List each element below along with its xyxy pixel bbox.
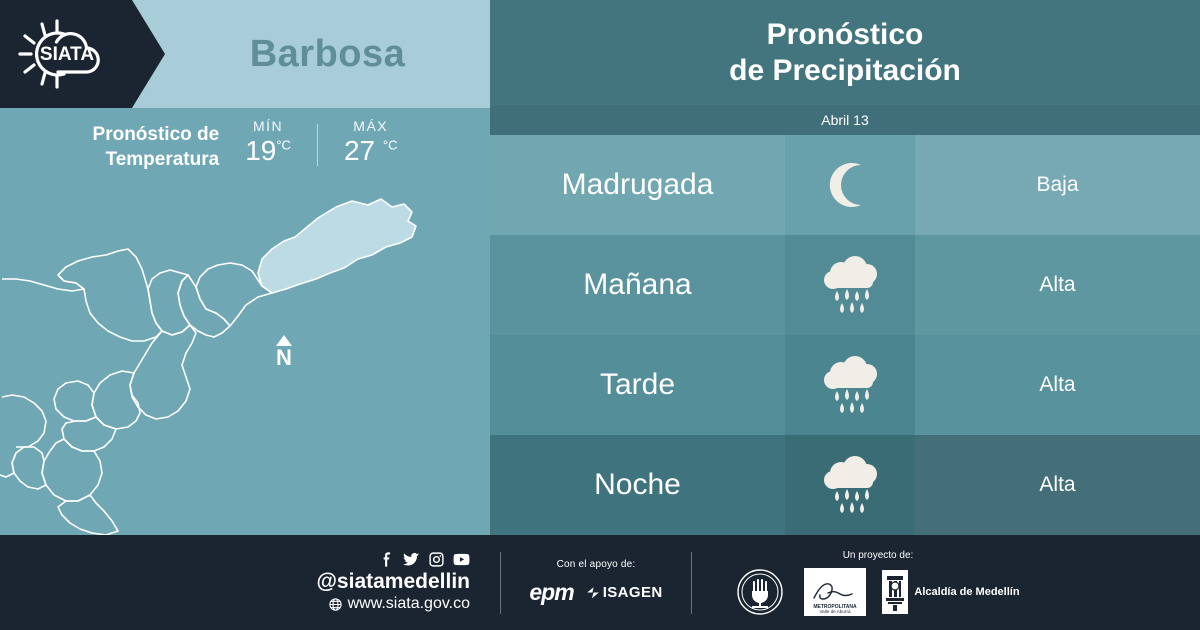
temperature-max: MÁX 27 °C <box>344 118 398 167</box>
compass-label: N <box>276 347 292 369</box>
temperature-max-value: 27 <box>344 135 375 166</box>
temperature-title-line1: Pronóstico de <box>93 122 220 147</box>
support-caption: Con el apoyo de: <box>501 559 691 570</box>
area-metropolitana-logo: METROPOLITANA Valle de Aburrá <box>804 568 866 616</box>
forecast-row: Noche <box>490 435 1200 535</box>
map-region-northwest <box>58 249 162 341</box>
sun-cloud-icon: SIATA <box>12 18 124 90</box>
map-region-itagui <box>54 381 96 421</box>
period-label: Mañana <box>490 235 785 335</box>
temperature-title: Pronóstico de Temperatura <box>93 118 220 172</box>
map-region-la-estrella <box>42 439 102 501</box>
forecast-row: Tarde <box>490 335 1200 435</box>
temperature-min-value: 19 <box>245 135 276 166</box>
map-region-bello <box>148 270 190 335</box>
footer-support-block: Con el apoyo de: epm ISAGEN <box>501 559 691 606</box>
social-icons <box>378 551 470 568</box>
temperature-max-label: MÁX <box>344 118 398 134</box>
temperature-title-line2: Temperatura <box>93 147 220 172</box>
moon-icon <box>817 155 883 215</box>
infographic-canvas: SIATA Barbosa Pronóstico de Temperatura … <box>0 0 1200 630</box>
alcaldia-label: Alcaldía de Medellín <box>914 586 1019 598</box>
twitter-icon[interactable] <box>403 551 420 568</box>
left-panel: SIATA Barbosa Pronóstico de Temperatura … <box>0 0 490 535</box>
facebook-icon[interactable] <box>378 551 395 568</box>
period-label: Noche <box>490 435 785 535</box>
svg-text:SIATA: SIATA <box>40 44 94 65</box>
temperature-min-label: MÍN <box>245 118 291 134</box>
precipitation-level: Alta <box>915 435 1200 535</box>
precipitation-level: Alta <box>915 235 1200 335</box>
rain-cloud-icon <box>817 455 883 515</box>
weather-icon-cell <box>785 335 915 435</box>
right-panel: Pronóstico de Precipitación Abril 13 Mad… <box>490 0 1200 535</box>
map-region-caldas <box>58 495 118 535</box>
instagram-icon[interactable] <box>428 551 445 568</box>
temperature-min-value-wrap: 19°C <box>245 135 291 167</box>
map-region-medellin <box>130 325 196 419</box>
weather-icon-cell <box>785 435 915 535</box>
temperature-max-value-wrap: 27 °C <box>344 135 398 167</box>
alcaldia-logo: Alcaldía de Medellín <box>882 570 1019 614</box>
isagen-logo: ISAGEN <box>586 584 663 601</box>
temperature-min-unit: °C <box>276 138 291 153</box>
alcaldia-mark-icon <box>882 570 908 614</box>
isagen-mark-icon <box>586 586 600 599</box>
temperature-min: MÍN 19°C <box>245 118 291 167</box>
epm-logo: epm <box>529 579 573 606</box>
rain-cloud-icon <box>817 355 883 415</box>
forecast-row: Mañana <box>490 235 1200 335</box>
rain-cloud-icon <box>817 255 883 315</box>
forecast-date: Abril 13 <box>490 105 1200 135</box>
precipitation-level: Alta <box>915 335 1200 435</box>
weather-icon-cell <box>785 235 915 335</box>
siata-logo-banner: SIATA <box>0 0 165 108</box>
map-region-far-west <box>0 395 46 477</box>
footer: @siatamedellin www.siata.gov.co Con el a… <box>0 535 1200 630</box>
project-caption: Un proyecto de: <box>704 550 1052 561</box>
map-region-barbosa <box>258 199 416 293</box>
forecast-row: Madrugada Baja <box>490 135 1200 235</box>
temperature-divider <box>317 124 318 166</box>
sponsor-logos: epm ISAGEN <box>501 579 691 606</box>
udea-seal-icon <box>736 568 784 616</box>
project-logos: METROPOLITANA Valle de Aburrá <box>704 568 1052 616</box>
area-logo-line2: Valle de Aburrá <box>820 609 852 614</box>
period-label: Tarde <box>490 335 785 435</box>
aburra-valley-map: N <box>0 185 490 535</box>
footer-social-block: @siatamedellin www.siata.gov.co <box>0 551 500 614</box>
map-region-west-edge <box>12 447 46 489</box>
footer-project-block: Un proyecto de: <box>692 550 1052 616</box>
social-handle[interactable]: @siatamedellin <box>316 570 470 594</box>
temperature-block: Pronóstico de Temperatura MÍN 19°C MÁX 2… <box>0 118 490 190</box>
precipitation-title-line2: de Precipitación <box>729 53 961 89</box>
period-label: Madrugada <box>490 135 785 235</box>
precipitation-level: Baja <box>915 135 1200 235</box>
weather-icon-cell <box>785 135 915 235</box>
map-svg <box>0 185 490 535</box>
compass: N <box>276 335 292 369</box>
city-title: Barbosa <box>165 0 490 108</box>
precipitation-header: Pronóstico de Precipitación <box>490 0 1200 105</box>
isagen-label: ISAGEN <box>603 584 663 601</box>
youtube-icon[interactable] <box>453 551 470 568</box>
website-url: www.siata.gov.co <box>348 594 470 614</box>
forecast-rows: Madrugada Baja Mañana <box>490 135 1200 535</box>
map-region-west-tail <box>2 275 84 291</box>
precipitation-title-line1: Pronóstico <box>767 17 924 53</box>
temperature-max-unit: °C <box>383 138 398 153</box>
website-line[interactable]: www.siata.gov.co <box>328 594 470 614</box>
globe-icon <box>328 597 343 612</box>
